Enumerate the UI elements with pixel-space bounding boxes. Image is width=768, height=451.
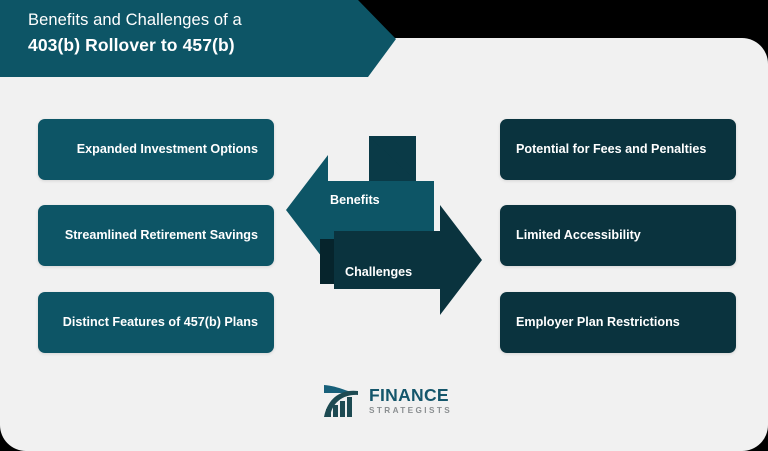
logo-wordmark: FINANCE STRATEGISTS: [369, 387, 452, 416]
header-ribbon: Benefits and Challenges of a 403(b) Roll…: [0, 0, 400, 77]
challenge-card-3-label: Employer Plan Restrictions: [516, 314, 680, 331]
benefit-card-3[interactable]: Distinct Features of 457(b) Plans: [38, 292, 274, 353]
infographic-root: Benefits and Challenges of a 403(b) Roll…: [0, 0, 768, 451]
benefit-card-3-label: Distinct Features of 457(b) Plans: [63, 314, 258, 331]
benefits-arrow-label: Benefits: [330, 193, 380, 207]
title-line-2: 403(b) Rollover to 457(b): [28, 34, 358, 57]
page-title: Benefits and Challenges of a 403(b) Roll…: [28, 10, 358, 57]
challenge-card-2-label: Limited Accessibility: [516, 227, 641, 244]
finance-strategists-bar-chart-swoosh-icon: [322, 383, 362, 419]
challenge-card-1-label: Potential for Fees and Penalties: [516, 141, 706, 158]
benefit-card-1[interactable]: Expanded Investment Options: [38, 119, 274, 180]
challenges-arrow-label: Challenges: [345, 265, 412, 279]
challenge-card-1[interactable]: Potential for Fees and Penalties: [500, 119, 736, 180]
brand-logo[interactable]: FINANCE STRATEGISTS: [322, 380, 470, 422]
challenge-card-2[interactable]: Limited Accessibility: [500, 205, 736, 266]
benefit-card-2-label: Streamlined Retirement Savings: [65, 227, 258, 244]
dual-arrow-graphic: Benefits Challenges: [282, 136, 486, 334]
benefit-card-2[interactable]: Streamlined Retirement Savings: [38, 205, 274, 266]
logo-primary-text: FINANCE: [369, 387, 452, 405]
title-line-1: Benefits and Challenges of a: [28, 10, 358, 32]
logo-secondary-text: STRATEGISTS: [369, 407, 452, 415]
benefit-card-1-label: Expanded Investment Options: [77, 141, 258, 158]
challenge-card-3[interactable]: Employer Plan Restrictions: [500, 292, 736, 353]
